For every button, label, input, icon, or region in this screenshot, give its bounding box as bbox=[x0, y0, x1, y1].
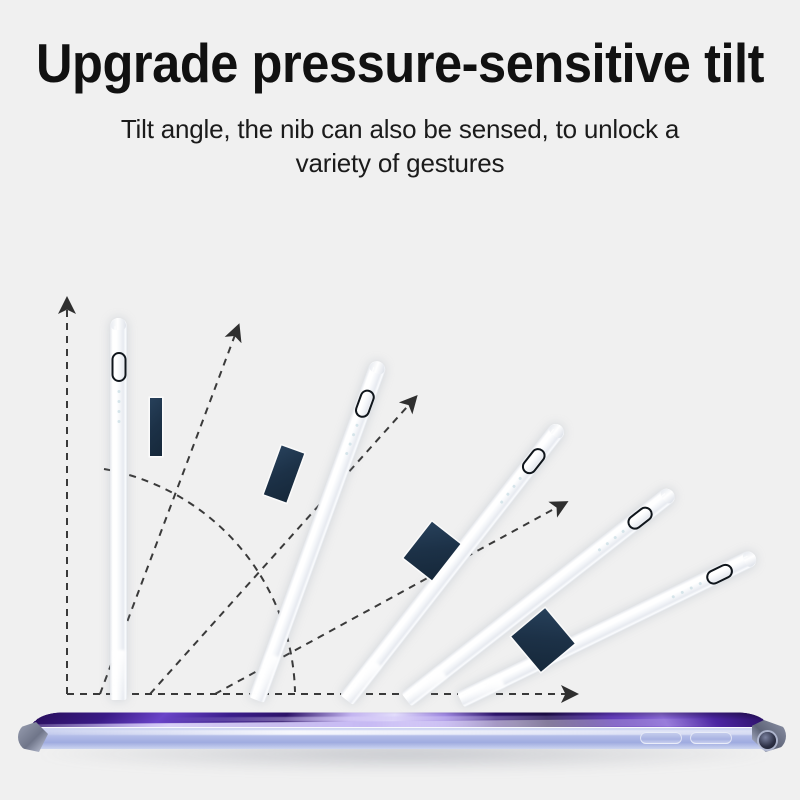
volume-up-button[interactable] bbox=[640, 732, 682, 744]
stylus-led-indicators bbox=[117, 390, 120, 423]
volume-down-button[interactable] bbox=[690, 732, 732, 744]
tablet-device bbox=[0, 680, 800, 800]
stylus-upright bbox=[110, 318, 127, 700]
promo-image: Upgrade pressure-sensitive tilt Tilt ang… bbox=[0, 0, 800, 800]
camera-lens-icon bbox=[759, 732, 776, 749]
ink-stroke-thin bbox=[150, 398, 162, 456]
stylus-button-icon bbox=[111, 352, 126, 382]
